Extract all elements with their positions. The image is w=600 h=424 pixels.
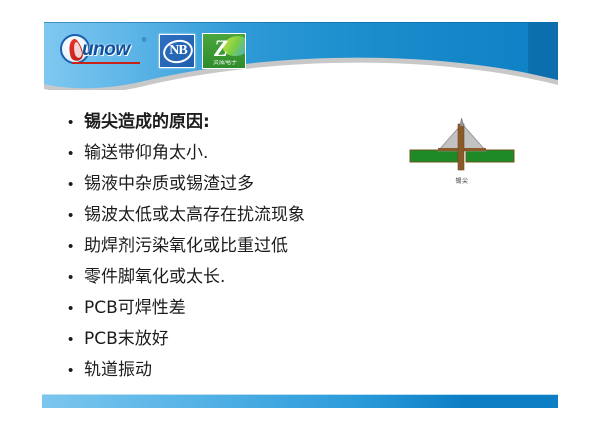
- green-z-logo: Z 灵成电子: [202, 33, 246, 69]
- slide-canvas: unow ® NB Z 灵成电子 • 锡尖造成的原因: • 输送带: [0, 0, 600, 424]
- unow-wordmark: unow: [82, 39, 130, 61]
- unow-logo: unow ®: [60, 33, 152, 69]
- list-item: • 零件脚氧化或太长.: [68, 263, 398, 292]
- list-item-label: 锡尖造成的原因:: [84, 108, 210, 137]
- pad-left: [438, 148, 460, 151]
- footer-bar: [42, 394, 558, 408]
- list-item: • 轨道振动: [68, 356, 398, 385]
- list-item: • 锡液中杂质或锡渣过多: [68, 170, 398, 199]
- list-item: • PCB末放好: [68, 325, 398, 354]
- unow-underline: [72, 62, 140, 64]
- bullet-icon: •: [68, 325, 84, 354]
- list-item: • 锡波太低或太高存在扰流现象: [68, 201, 398, 230]
- list-item-label: 输送带仰角太小.: [84, 139, 208, 168]
- list-item: • 输送带仰角太小.: [68, 139, 398, 168]
- bullet-icon: •: [68, 263, 84, 292]
- logo-row: unow ® NB Z 灵成电子: [60, 29, 246, 73]
- bullet-icon: •: [68, 356, 84, 385]
- list-item-label: PCB末放好: [84, 325, 169, 354]
- list-item-label: 锡液中杂质或锡渣过多: [84, 170, 254, 199]
- bullet-icon: •: [68, 201, 84, 230]
- registered-trademark-icon: ®: [142, 38, 146, 44]
- list-item-label: 锡波太低或太高存在扰流现象: [84, 201, 305, 230]
- green-z-wordmark: Z: [214, 36, 228, 62]
- bullet-icon: •: [68, 232, 84, 261]
- component-lead: [458, 124, 464, 170]
- list-item: • PCB可焊性差: [68, 294, 398, 323]
- list-item: • 助焊剂污染氧化或比重过低: [68, 232, 398, 261]
- pcb-board-right: [466, 150, 514, 162]
- list-item-label: PCB可焊性差: [84, 294, 186, 323]
- solder-spike-tip: [460, 118, 464, 126]
- solder-spike-diagram: 锡尖: [408, 118, 516, 194]
- list-item-label: 轨道振动: [84, 356, 152, 385]
- bullet-list: • 锡尖造成的原因: • 输送带仰角太小. • 锡液中杂质或锡渣过多 • 锡波太…: [68, 108, 398, 387]
- header-banner: unow ® NB Z 灵成电子: [44, 22, 558, 90]
- pad-right: [464, 148, 486, 151]
- bullet-icon: •: [68, 170, 84, 199]
- nb-logo: NB: [159, 34, 195, 68]
- list-item-label: 助焊剂污染氧化或比重过低: [84, 232, 288, 261]
- bullet-icon: •: [68, 294, 84, 323]
- bullet-icon: •: [68, 108, 84, 137]
- solder-spike-illustration: [408, 118, 516, 176]
- green-z-company-label: 灵成电子: [203, 60, 246, 67]
- pcb-board-left: [410, 150, 458, 162]
- diagram-caption: 锡尖: [408, 176, 516, 185]
- list-item-label: 零件脚氧化或太长.: [84, 263, 225, 292]
- list-item: • 锡尖造成的原因:: [68, 108, 398, 137]
- nb-wordmark: NB: [160, 43, 195, 59]
- bullet-icon: •: [68, 139, 84, 168]
